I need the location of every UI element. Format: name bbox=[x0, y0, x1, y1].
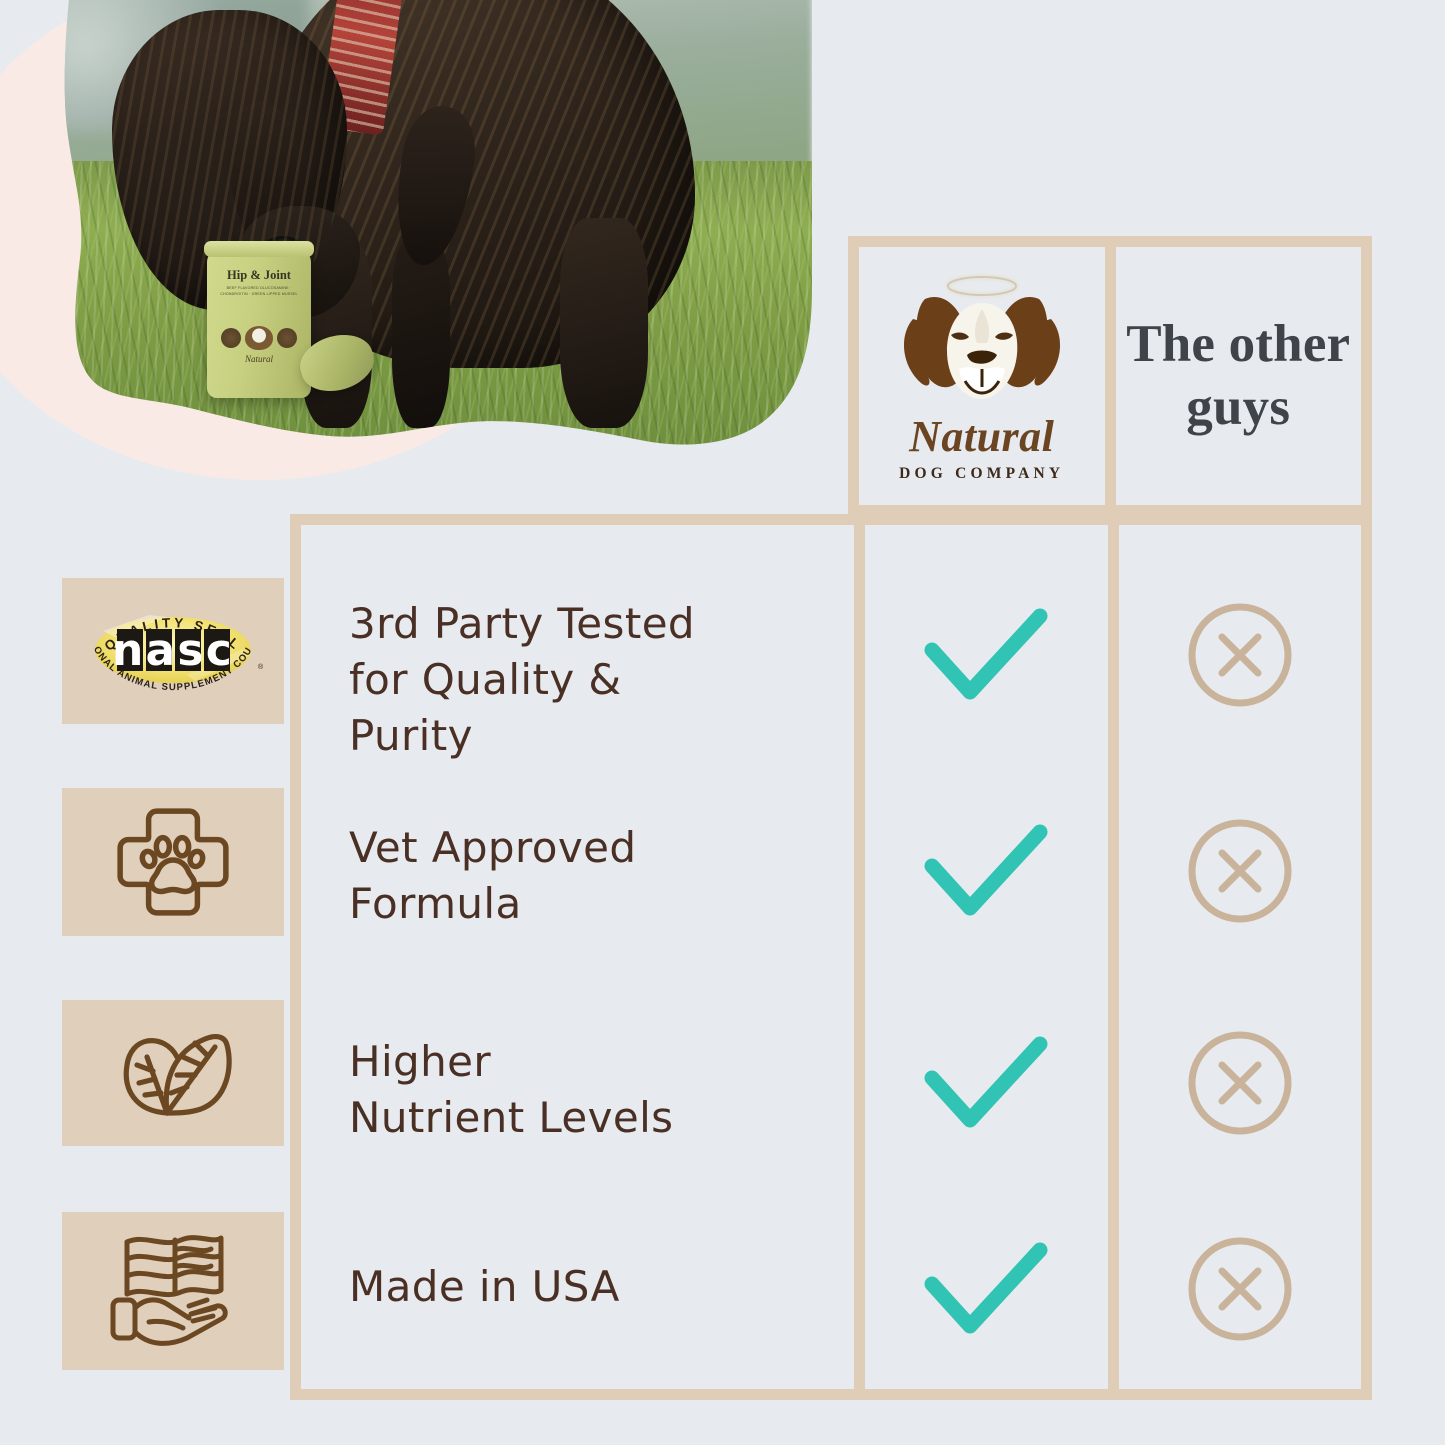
dog-head-halo-logo bbox=[887, 269, 1077, 409]
table-row: Vet Approved Formula bbox=[349, 801, 834, 951]
table-row: 3rd Party Tested for Quality & Purity bbox=[349, 577, 834, 783]
medical-cross-paw-icon bbox=[112, 801, 234, 923]
brand-wordmark: Natural bbox=[909, 411, 1054, 462]
brand-tagline: DOG COMPANY bbox=[899, 465, 1064, 483]
other-guys-column bbox=[1108, 525, 1361, 1389]
comparison-header-frame: Natural DOG COMPANY The other guys bbox=[848, 236, 1372, 516]
feature-icon-tile-vet bbox=[62, 788, 284, 936]
natural-dog-company-column bbox=[854, 525, 1107, 1389]
competitor-header-cell: The other guys bbox=[1105, 247, 1362, 505]
two-leaves-icon bbox=[105, 1017, 241, 1129]
feature-label: 3rd Party Tested for Quality & Purity bbox=[349, 596, 695, 765]
svg-text:®: ® bbox=[258, 663, 264, 671]
jar-brand-word: Natural bbox=[207, 354, 311, 364]
check-icon bbox=[916, 600, 1056, 712]
circled-x-icon bbox=[1184, 599, 1296, 711]
infographic-stage: Hip & Joint BEEF FLAVORED GLUCOSAMINE · … bbox=[0, 0, 1445, 1445]
check-icon bbox=[916, 816, 1056, 928]
feature-label: Made in USA bbox=[349, 1259, 620, 1315]
feature-label: Higher Nutrient Levels bbox=[349, 1034, 673, 1147]
hand-holding-flag-icon bbox=[103, 1228, 243, 1354]
feature-icon-tile-usa bbox=[62, 1212, 284, 1370]
brand-logo: Natural DOG COMPANY bbox=[887, 269, 1077, 483]
feature-icon-tile-nasc: QUALITY SEAL nasc NATIONAL ANIMAL SUPPLE… bbox=[62, 578, 284, 724]
product-jar: Hip & Joint BEEF FLAVORED GLUCOSAMINE · … bbox=[207, 250, 311, 398]
feature-icon-tile-leaves bbox=[62, 1000, 284, 1146]
circled-x-icon bbox=[1184, 1233, 1296, 1345]
comparison-table: 3rd Party Tested for Quality & Purity Ve… bbox=[290, 514, 1372, 1400]
jar-subtitle: BEEF FLAVORED GLUCOSAMINE · CHONDROITIN … bbox=[215, 286, 303, 297]
table-row: Made in USA bbox=[349, 1237, 834, 1337]
svg-text:nasc: nasc bbox=[112, 625, 234, 676]
nasc-quality-seal-badge: QUALITY SEAL nasc NATIONAL ANIMAL SUPPLE… bbox=[75, 595, 271, 707]
competitor-label: The other guys bbox=[1116, 313, 1362, 438]
circled-x-icon bbox=[1184, 815, 1296, 927]
jar-title: Hip & Joint bbox=[207, 268, 311, 283]
check-icon bbox=[916, 1234, 1056, 1346]
brand-header-cell: Natural DOG COMPANY bbox=[859, 247, 1105, 505]
check-icon bbox=[916, 1028, 1056, 1140]
table-row: Higher Nutrient Levels bbox=[349, 1015, 834, 1165]
feature-column: 3rd Party Tested for Quality & Purity Ve… bbox=[301, 525, 854, 1389]
circled-x-icon bbox=[1184, 1027, 1296, 1139]
feature-label: Vet Approved Formula bbox=[349, 820, 636, 933]
